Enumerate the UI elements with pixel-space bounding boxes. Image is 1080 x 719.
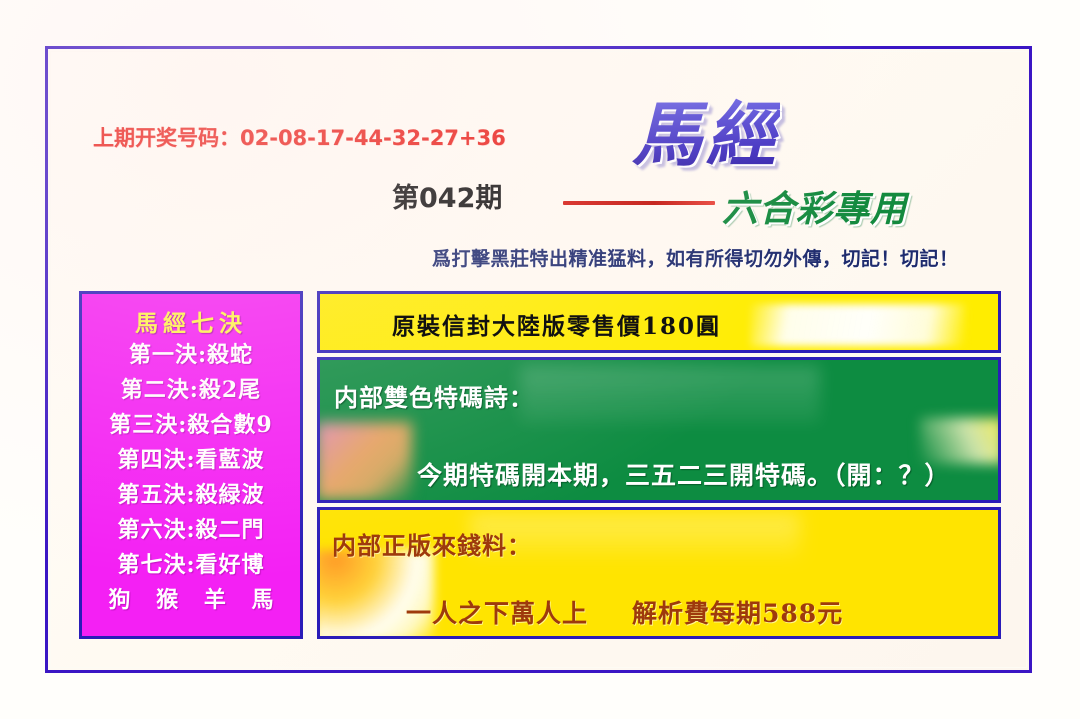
last-draw-numbers: 上期开奖号码：02-08-17-44-32-27+36 bbox=[93, 122, 506, 152]
money-line: 一人之下萬人上解析費每期588元 bbox=[406, 594, 843, 630]
inner-money-material-panel: 内部正版來錢料： 一人之下萬人上解析費每期588元 bbox=[317, 507, 1001, 639]
subbrand-mark-lottery: 六合彩專用 bbox=[722, 180, 907, 232]
decision-row-3: 第三決:殺合數9 bbox=[82, 408, 300, 443]
poem-left-smudge bbox=[317, 422, 412, 500]
issue-number: 第042期 bbox=[392, 176, 502, 215]
right-panel-column: 原裝信封大陸版零售價180圓 内部雙色特碼詩： 今期特碼開本期，三五二三開特碼。… bbox=[317, 291, 1001, 639]
money-fee: 解析費每期588元 bbox=[632, 599, 843, 628]
decision-row-4: 第四決:看藍波 bbox=[82, 443, 300, 478]
seven-decisions-panel: 馬經七決 第一決:殺蛇 第二決:殺2尾 第三決:殺合數9 第四決:看藍波 第五決… bbox=[79, 291, 303, 639]
decision-row-1: 第一決:殺蛇 bbox=[82, 338, 300, 373]
poem-label: 内部雙色特碼詩： bbox=[334, 378, 534, 413]
price-blur-overlay bbox=[750, 304, 965, 346]
decision-row-5: 第五決:殺緑波 bbox=[82, 478, 300, 513]
poem-top-haze bbox=[520, 366, 820, 424]
retail-price-text: 原裝信封大陸版零售價180圓 bbox=[392, 307, 721, 341]
decision-row-2: 第二決:殺2尾 bbox=[82, 373, 300, 408]
poem-line: 今期特碼開本期，三五二三開特碼。（開：？） bbox=[417, 456, 951, 492]
zodiac-picks-row: 狗 猴 羊 馬 bbox=[82, 583, 300, 618]
brand-logo-majing: 馬經 bbox=[632, 79, 780, 180]
retail-price-panel: 原裝信封大陸版零售價180圓 bbox=[317, 291, 1001, 353]
decision-row-6: 第六決:殺二門 bbox=[82, 513, 300, 548]
poster-canvas: 上期开奖号码：02-08-17-44-32-27+36 第042期 馬經 六合彩… bbox=[0, 0, 1080, 719]
seven-decisions-title: 馬經七決 bbox=[82, 304, 300, 338]
red-divider-rule bbox=[563, 201, 715, 205]
inner-two-color-poem-panel: 内部雙色特碼詩： 今期特碼開本期，三五二三開特碼。（開：？） bbox=[317, 357, 1001, 503]
money-label: 内部正版來錢料： bbox=[332, 526, 532, 561]
tagline-text: 爲打擊黑莊特出精准猛料，如有所得切勿外傳，切記！切記！ bbox=[432, 244, 959, 271]
money-slogan: 一人之下萬人上 bbox=[406, 599, 588, 628]
decision-row-7: 第七決:看好博 bbox=[82, 548, 300, 583]
